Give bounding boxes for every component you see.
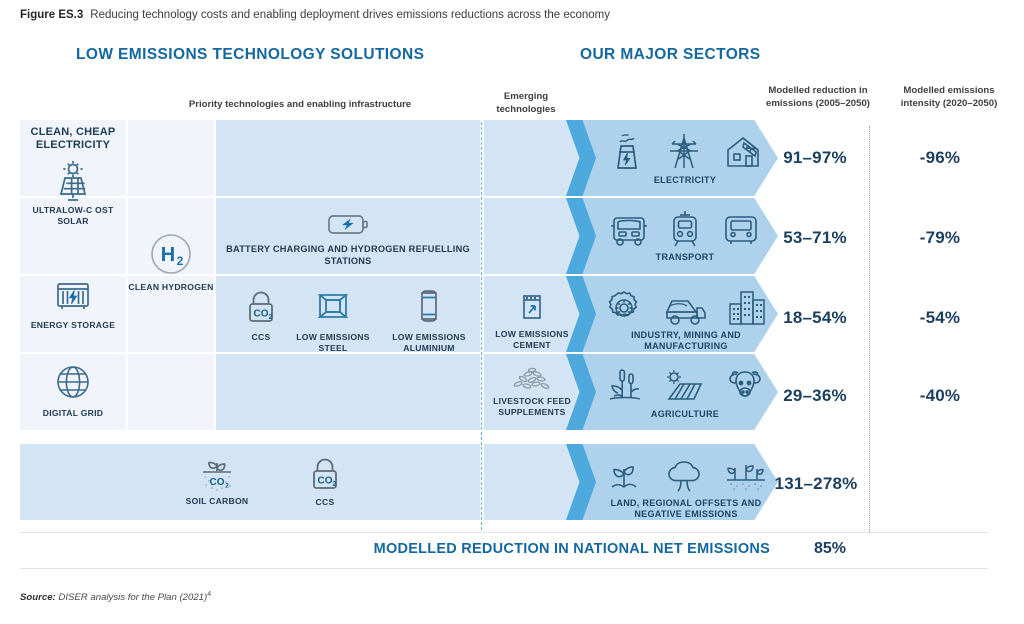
transmission-tower-icon [664, 130, 704, 172]
summary-rule-bottom [20, 568, 988, 569]
sector-label-agriculture: AGRICULTURE [600, 409, 770, 420]
tech-cell-low-emissions-steel: LOW EMISSIONS STEEL [294, 286, 372, 353]
globe-grid-icon [51, 362, 95, 402]
hydrogen-circle-icon: H 2 [145, 228, 197, 280]
sector-icons-industry [596, 288, 776, 328]
tech-label-low-emissions-cement: LOW EMISSIONS CEMENT [484, 329, 580, 350]
figure-caption: Figure ES.3Reducing technology costs and… [20, 9, 610, 21]
heading-our-major-sectors: OUR MAJOR SECTORS [580, 46, 760, 64]
left-column-title: CLEAN, CHEAP ELECTRICITY [22, 126, 124, 152]
tech-cell-ccs: CO 2 CCS [222, 288, 300, 343]
svg-text:2: 2 [177, 254, 184, 268]
svg-text:2: 2 [269, 314, 273, 321]
cow-icon [725, 366, 765, 406]
band-bottom-emerging [484, 444, 580, 520]
solar-panel-icon [47, 160, 99, 202]
tech-cell-energy-storage: ENERGY STORAGE [22, 278, 124, 331]
sector-label-electricity: ELECTRICITY [600, 175, 770, 186]
bus-icon [720, 211, 762, 249]
divider-percent-dotted [869, 126, 870, 532]
sector-icons-electricity [600, 130, 770, 172]
sector-label-transport: TRANSPORT [600, 252, 770, 263]
sector-cell-industry: INDUSTRY, MINING AND MANUFACTURING [596, 288, 776, 352]
tech-cell-clean-hydrogen: H 2 CLEAN HYDROGEN [128, 228, 214, 293]
svg-text:2: 2 [225, 483, 229, 490]
tech-label-ccs-bottom: CCS [286, 497, 364, 508]
truck-icon [608, 211, 650, 249]
column-header-emerging: Emerging technologies [478, 91, 574, 116]
sector-label-industry: INDUSTRY, MINING AND MANUFACTURING [596, 330, 776, 352]
sector-cell-land: LAND, REGIONAL OFFSETS AND NEGATIVE EMIS… [596, 456, 776, 520]
battery-storage-icon [47, 278, 99, 316]
field-sun-icon [663, 368, 707, 406]
tech-label-low-emissions-aluminium: LOW EMISSIONS ALUMINIUM [388, 332, 470, 353]
reduction-value-electricity: 91–97% [760, 148, 870, 168]
band-emerging-row2 [484, 198, 580, 274]
tech-cell-low-emissions-aluminium: LOW EMISSIONS ALUMINIUM [388, 286, 470, 353]
power-plant-icon [606, 130, 646, 172]
tech-label-energy-storage: ENERGY STORAGE [22, 320, 124, 331]
column-header-reduction: Modelled reduction in emissions (2005–20… [752, 85, 884, 110]
heading-low-emissions-technology-solutions: LOW EMISSIONS TECHNOLOGY SOLUTIONS [76, 46, 424, 64]
summary-rule-top [20, 532, 988, 533]
train-icon [668, 209, 702, 249]
tech-label-soil-carbon: SOIL CARBON [176, 496, 258, 507]
sector-cell-electricity: ELECTRICITY [600, 130, 770, 186]
sector-icons-land [596, 456, 776, 496]
tech-cell-soil-carbon: CO 2 SOIL CARBON [176, 455, 258, 507]
svg-text:CO: CO [210, 477, 225, 488]
summary-label: MODELLED REDUCTION IN NATIONAL NET EMISS… [300, 541, 770, 557]
steel-beam-icon [310, 286, 356, 328]
tech-label-clean-hydrogen: CLEAN HYDROGEN [128, 282, 214, 293]
soil-carbon-icon: CO 2 [195, 455, 239, 493]
tech-label-low-emissions-steel: LOW EMISSIONS STEEL [294, 332, 372, 353]
sector-cell-agriculture: AGRICULTURE [600, 366, 770, 420]
figure-number: Figure ES.3 [20, 9, 83, 21]
source-text: DISER analysis for the Plan (2021) [58, 592, 207, 603]
reduction-value-transport: 53–71% [760, 228, 870, 248]
band-h2-row1 [128, 120, 214, 196]
sector-icons-transport [600, 209, 770, 249]
figure-caption-text: Reducing technology costs and enabling d… [90, 9, 610, 21]
summary-value: 85% [790, 540, 870, 558]
tech-cell-low-emissions-cement: LOW EMISSIONS CEMENT [484, 288, 580, 350]
house-solar-icon [722, 130, 764, 172]
aluminium-can-icon [411, 286, 447, 328]
tech-cell-ccs-bottom: CO 2 CCS [286, 455, 364, 508]
intensity-value-industry: -54% [876, 308, 1004, 328]
intensity-value-transport: -79% [876, 228, 1004, 248]
tech-label-battery-charging: BATTERY CHARGING AND HYDROGEN REFUELLING… [226, 244, 470, 267]
svg-text:CO: CO [254, 309, 269, 320]
source-note: Source: DISER analysis for the Plan (202… [20, 591, 211, 603]
tech-cell-solar: ULTRALOW-C OST SOLAR [22, 160, 124, 226]
reduction-value-agriculture: 29–36% [760, 386, 870, 406]
tech-cell-battery-charging: BATTERY CHARGING AND HYDROGEN REFUELLING… [226, 209, 470, 267]
source-footnote: 4 [207, 591, 211, 598]
dump-truck-icon [662, 290, 708, 328]
divider-emerging-dashed [481, 122, 482, 530]
band-main-row1 [216, 120, 480, 196]
battery-charging-icon [325, 209, 371, 239]
feed-pellets-icon [502, 366, 562, 394]
reeds-icon [605, 366, 645, 406]
tech-label-ccs: CCS [222, 332, 300, 343]
co2-lock-icon: CO 2 [241, 288, 281, 328]
svg-text:2: 2 [333, 481, 337, 488]
band-main-row4 [216, 354, 480, 430]
co2-lock-icon: CO 2 [305, 455, 345, 495]
source-prefix: Source: [20, 592, 56, 603]
sector-icons-agriculture [600, 366, 770, 406]
column-header-priority: Priority technologies and enabling infra… [120, 99, 480, 112]
cement-bag-icon [513, 288, 551, 326]
gear-icon [604, 288, 644, 328]
tech-label-digital-grid: DIGITAL GRID [22, 408, 124, 419]
sector-label-land: LAND, REGIONAL OFFSETS AND NEGATIVE EMIS… [596, 498, 776, 520]
svg-text:H: H [161, 244, 175, 266]
intensity-value-electricity: -96% [876, 148, 1004, 168]
tree-icon [663, 456, 705, 496]
band-emerging-row1 [484, 120, 580, 196]
tech-label-livestock-feed: LIVESTOCK FEED SUPPLEMENTS [480, 396, 584, 417]
reduction-value-land: 131–278% [756, 474, 876, 494]
seedling-icon [603, 456, 645, 496]
intensity-value-agriculture: -40% [876, 386, 1004, 406]
band-h2-row4 [128, 354, 214, 430]
tech-cell-livestock-feed: LIVESTOCK FEED SUPPLEMENTS [480, 366, 584, 417]
tech-label-solar: ULTRALOW-C OST SOLAR [22, 205, 124, 226]
sector-cell-transport: TRANSPORT [600, 209, 770, 263]
tech-cell-digital-grid: DIGITAL GRID [22, 362, 124, 419]
svg-text:CO: CO [318, 476, 333, 487]
column-header-intensity: Modelled emissions intensity (2020–2050) [884, 85, 1014, 110]
reduction-value-industry: 18–54% [760, 308, 870, 328]
